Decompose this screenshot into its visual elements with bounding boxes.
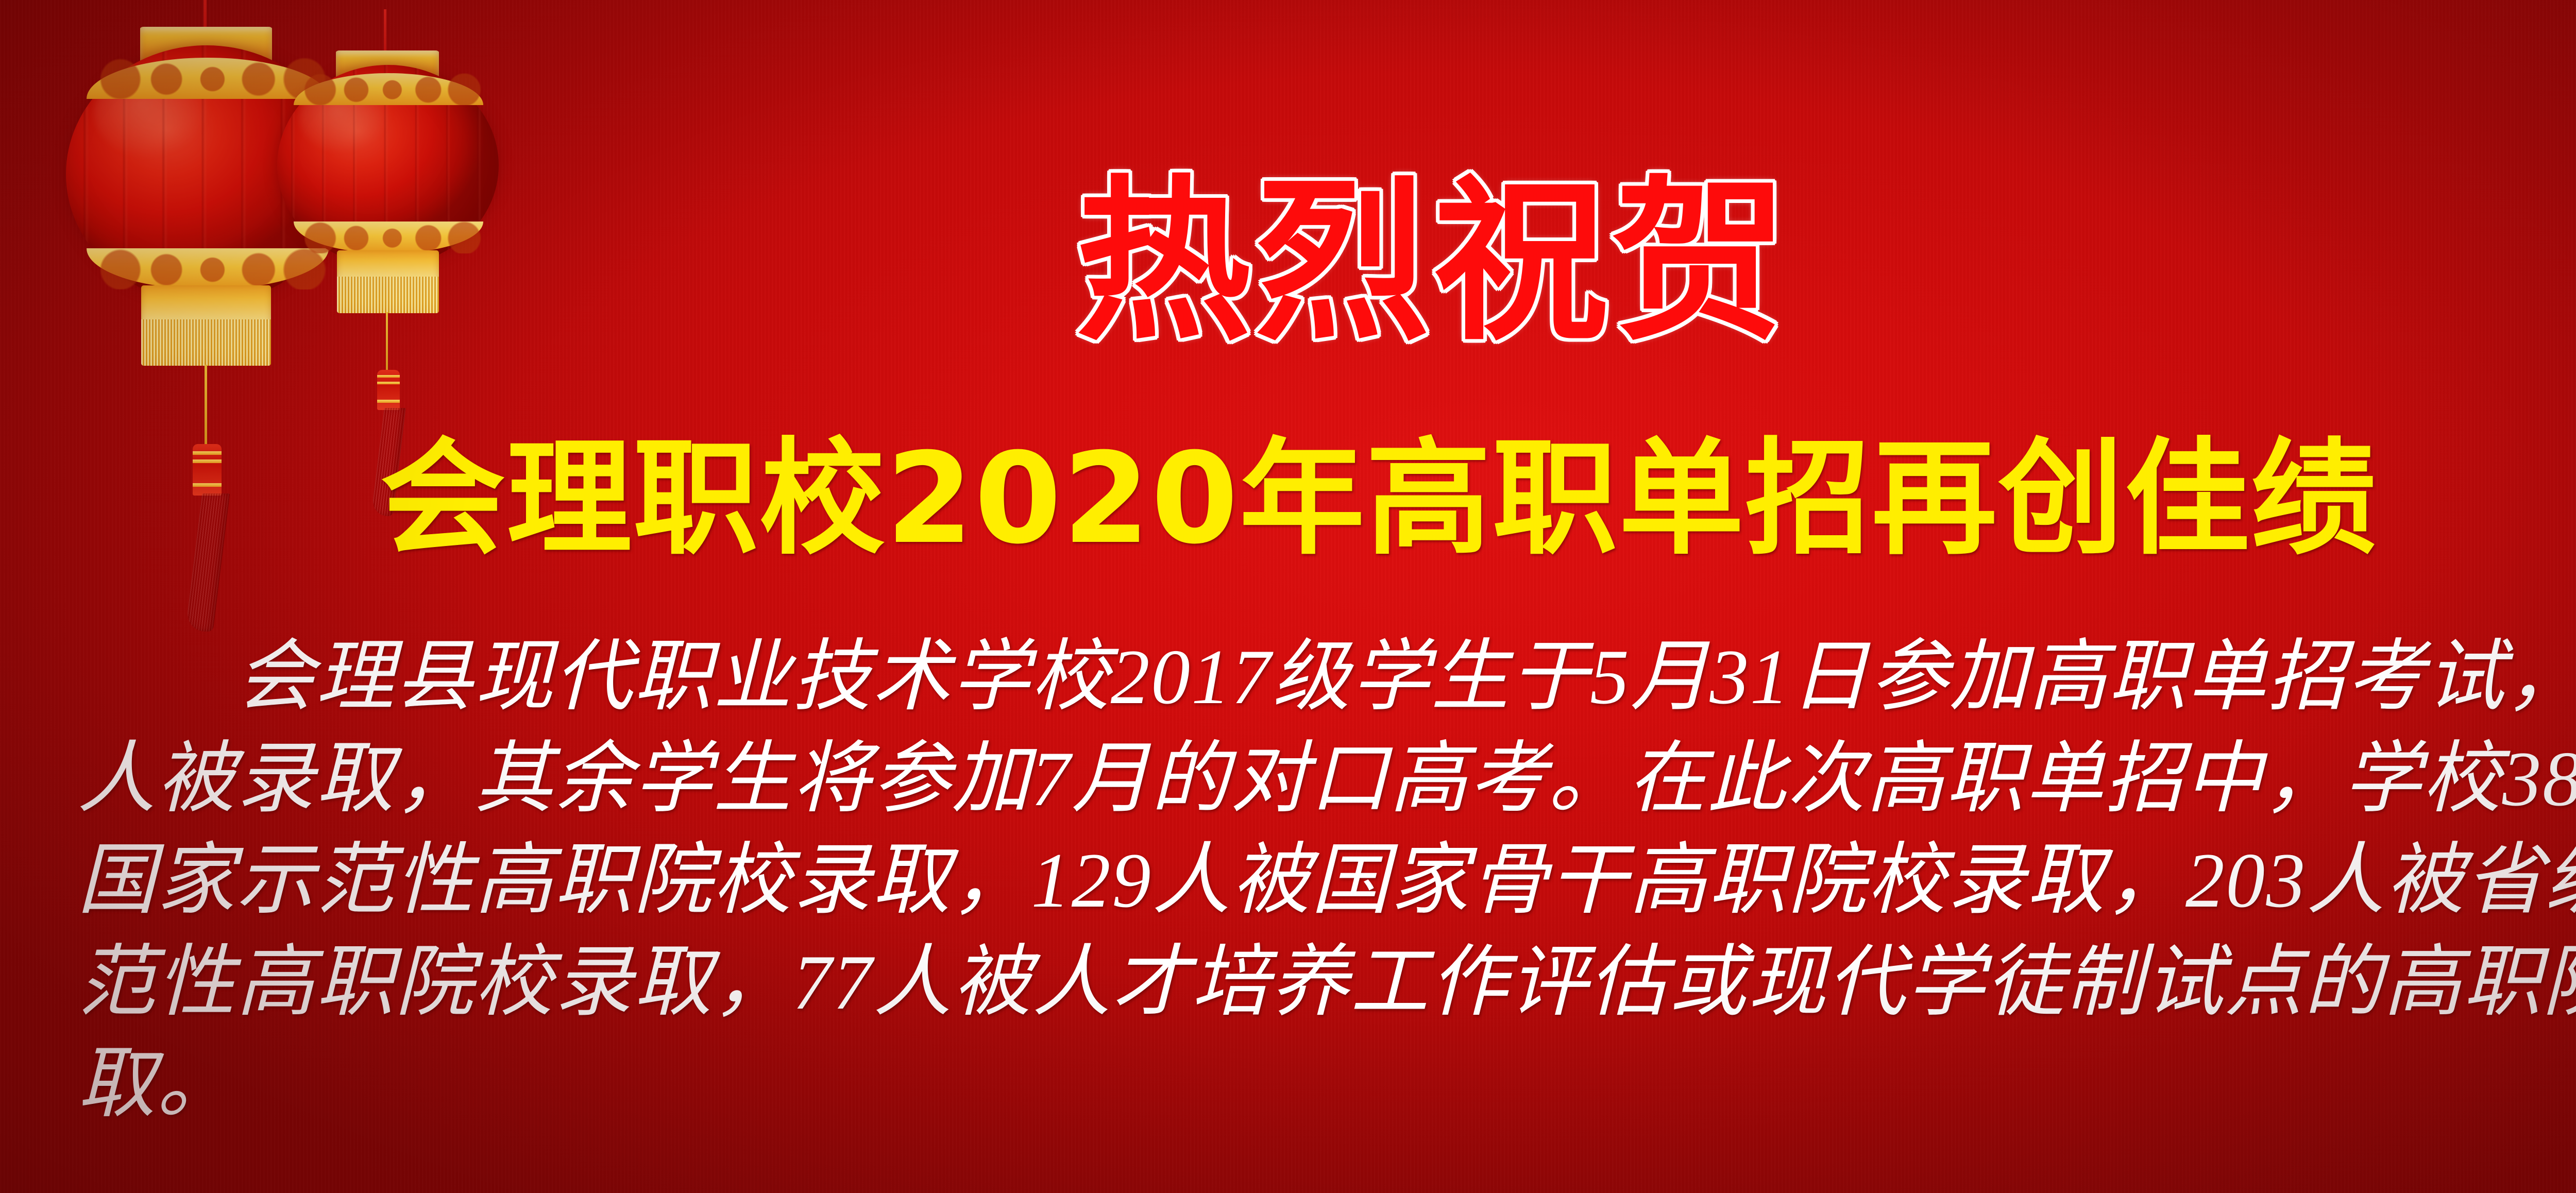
lantern-tassel-head-icon [193,444,222,496]
body-line: 范性高职院校录取，77人被人才培养工作评估或现代学徒制试点的高职院校录 [77,932,2576,1034]
tassel-ring-icon [193,483,222,487]
page-headline: 热烈祝贺 [1076,120,1790,373]
lantern-tassel-string-icon [205,365,207,447]
page-subheadline: 会理职校2020年高职单招再创佳绩 [380,397,2378,578]
lantern-scroll-pattern-icon [294,73,483,105]
lantern-cord-icon [384,9,386,54]
lantern-cord-icon [204,0,207,30]
tassel-ring-icon [377,375,400,378]
lantern-fringe-icon [337,277,439,313]
body-line: 人被录取，其余学生将参加7月的对口高考。在此次高职单招中，学校38人被 [77,728,2576,830]
body-line: 国家示范性高职院校录取，129人被国家骨干高职院校录取，203人被省级示 [77,830,2576,932]
lantern-tassel-string-icon [386,312,388,373]
lantern-lace-bottom-icon [294,221,483,253]
lantern-scroll-pattern-icon [294,221,483,253]
lantern-skirt-icon [337,250,439,313]
tassel-ring-icon [193,459,222,463]
tassel-ring-icon [377,382,400,384]
tassel-ring-icon [193,451,222,455]
body-line: 会理县现代职业技术学校2017级学生于5月31日参加高职单招考试，447 [77,626,2576,728]
lantern-lace-top-icon [294,73,483,105]
body-line: 取。 [77,1033,2576,1135]
announcement-body: 会理县现代职业技术学校2017级学生于5月31日参加高职单招考试，447 人被录… [77,626,2576,1135]
celebration-poster: 热烈祝贺 会理职校2020年高职单招再创佳绩 会理县现代职业技术学校2017级学… [0,0,2576,1193]
